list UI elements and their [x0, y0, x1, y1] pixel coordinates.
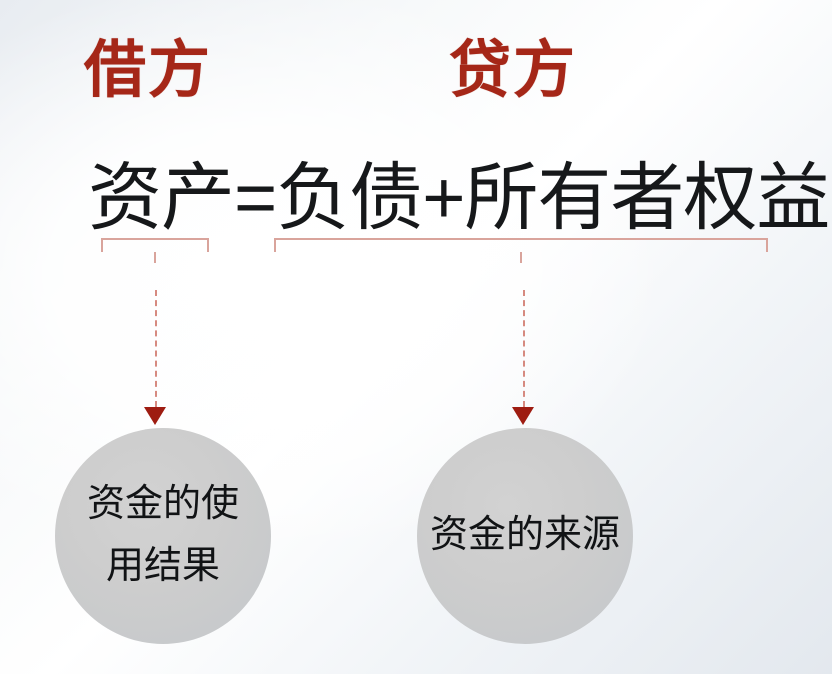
column-header-credit: 贷方	[449, 40, 577, 102]
circle-fund-source: 资金的来源	[417, 428, 633, 644]
arrow-left-line	[155, 290, 157, 407]
circle-fund-source-line-1: 资金的来源	[430, 505, 620, 567]
brace-left	[101, 238, 209, 252]
arrow-right-line	[523, 290, 525, 407]
brace-left-tick	[154, 252, 156, 263]
column-header-debit: 借方	[84, 40, 212, 102]
brace-right	[274, 238, 768, 252]
circle-fund-usage-line-2: 用结果	[106, 536, 220, 598]
circle-fund-usage-line-1: 资金的使	[87, 474, 239, 536]
circle-fund-usage: 资金的使 用结果	[55, 428, 271, 644]
slide-canvas: 借方 贷方 资产=负债+所有者权益 资金的使 用结果 资金的来源	[0, 0, 832, 674]
brace-right-tick	[520, 252, 522, 263]
arrow-left-head-icon	[144, 407, 166, 425]
arrow-right-head-icon	[512, 407, 534, 425]
accounting-equation: 资产=负债+所有者权益	[88, 157, 829, 240]
